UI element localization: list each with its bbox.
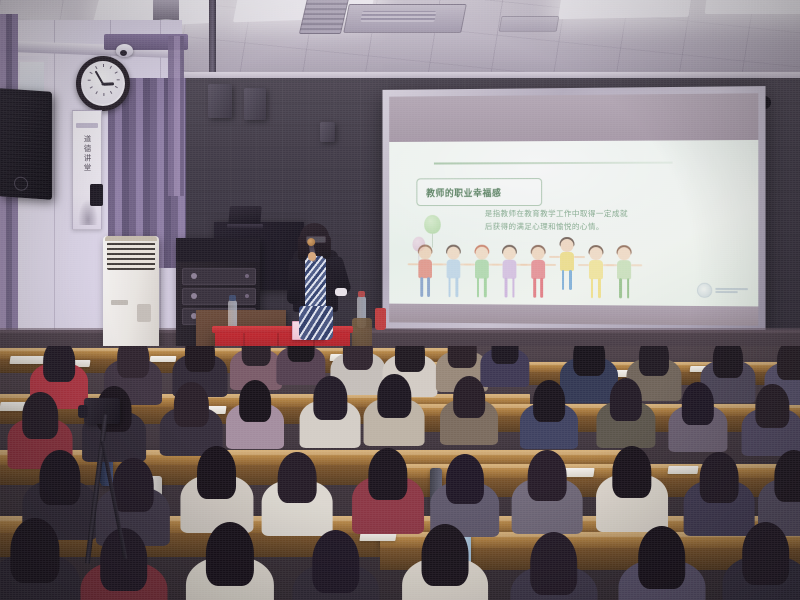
cartoon-child	[527, 247, 549, 301]
audience-member	[722, 522, 800, 600]
standing-air-conditioner	[103, 236, 159, 354]
audience-hair	[10, 518, 59, 583]
child-leg	[512, 278, 515, 298]
audience-hair	[378, 374, 411, 418]
ac-brand-label	[111, 300, 128, 305]
audience-hair	[528, 450, 567, 501]
clock-tick	[117, 79, 120, 80]
audience-hair	[174, 382, 208, 427]
child-head	[560, 239, 573, 252]
cartoon-child	[442, 247, 464, 301]
child-shirt	[418, 259, 432, 278]
audience-hair	[368, 448, 407, 500]
audience-hair	[638, 346, 668, 376]
child-leg	[505, 278, 508, 298]
audience-hair	[117, 346, 149, 378]
audience-member	[510, 532, 597, 600]
presenter	[286, 226, 348, 338]
slide-title-box: 教师的职业幸福感	[416, 178, 542, 206]
rack-unit	[182, 288, 256, 305]
audience-hair	[530, 532, 578, 595]
rack-led	[245, 294, 249, 298]
child-arm	[545, 264, 556, 266]
audience-member	[596, 446, 668, 538]
child-arm	[574, 256, 585, 258]
projection-screen: 教师的职业幸福感 是指教师在教育教学工作中取得一定成就 后获得的满足心理和愉悦的…	[389, 93, 758, 326]
audience-hair	[39, 450, 80, 505]
cartoon-child	[556, 239, 578, 301]
audience-hair	[312, 530, 360, 593]
slide-body-line-2: 后获得的满足心理和愉悦的心情。	[485, 220, 681, 233]
ac-top	[105, 236, 157, 241]
laptop-screen	[228, 206, 262, 225]
audience-hair	[491, 346, 518, 364]
rack-top-blank	[176, 238, 260, 262]
child-arm	[606, 264, 617, 266]
child-shirt	[588, 260, 602, 279]
audience-member	[292, 530, 379, 600]
ac-control-panel	[137, 304, 151, 322]
child-leg	[590, 278, 593, 298]
presenter-cuff	[335, 288, 347, 296]
audience-hair	[573, 346, 605, 376]
cartoon-child	[471, 247, 493, 301]
child-shirt	[560, 252, 574, 271]
cartoon-child	[613, 247, 635, 301]
presenter-hand	[308, 252, 316, 261]
presentation-slide: 教师的职业幸福感 是指教师在教育教学工作中取得一定成就 后获得的满足心理和愉悦的…	[389, 140, 758, 307]
screen-bottom-band	[389, 304, 758, 326]
audience-hair	[314, 376, 347, 420]
presenter-laptop	[227, 206, 263, 230]
small-speaker	[90, 184, 103, 206]
slide-body-line-1: 是指教师在教育教学工作中取得一定成就	[485, 207, 681, 220]
audience-hair	[278, 452, 317, 503]
audience-hair	[533, 380, 565, 422]
logo-mark-icon	[697, 283, 712, 298]
child-head	[475, 247, 488, 260]
audience-hair	[184, 346, 214, 372]
cartoon-child	[414, 247, 435, 300]
child-shirt	[475, 260, 489, 279]
child-leg	[456, 277, 459, 297]
child-leg	[619, 278, 622, 298]
ceiling-conduit	[209, 0, 216, 82]
wall-speaker	[320, 122, 335, 142]
child-arm	[436, 263, 447, 265]
banner-header-strip	[76, 123, 98, 128]
child-leg	[598, 278, 601, 298]
audience-hair	[206, 522, 254, 586]
clock-tick	[103, 93, 104, 96]
audience-hair	[453, 376, 485, 418]
child-head	[589, 247, 602, 260]
audience-member	[0, 518, 80, 600]
child-arm	[464, 264, 475, 266]
audience-member	[226, 380, 284, 454]
audience-hair	[446, 454, 484, 504]
presenter-skirt	[299, 306, 333, 340]
child-leg	[484, 278, 487, 298]
security-camera-icon	[116, 44, 133, 57]
child-head	[447, 247, 460, 260]
child-leg	[533, 278, 536, 298]
rack-unit	[182, 268, 256, 285]
clock-hour-hand	[103, 82, 114, 85]
red-cup	[375, 308, 386, 330]
child-shirt	[446, 259, 460, 278]
balloon-icon	[424, 215, 441, 234]
bottle-cap	[358, 291, 365, 297]
audience-hair	[342, 346, 372, 370]
wall-speaker	[244, 88, 266, 120]
audience-member	[512, 450, 583, 540]
child-leg	[569, 270, 572, 290]
clock-tick	[88, 79, 91, 80]
child-leg	[427, 277, 430, 297]
audience-hair	[239, 380, 271, 422]
wall-speaker	[208, 84, 232, 118]
child-shirt	[617, 260, 631, 279]
audience-hair	[609, 378, 641, 421]
rack-knob	[191, 273, 197, 279]
audience-hair	[700, 452, 739, 503]
ac-vent-grill	[107, 242, 155, 270]
child-leg	[627, 278, 630, 298]
child-shirt	[503, 260, 517, 279]
clock-center-pin	[102, 82, 105, 85]
audience-member	[364, 374, 425, 452]
audience-hair	[776, 346, 800, 380]
child-head	[503, 247, 516, 260]
slide-institution-logo	[697, 283, 748, 299]
lecture-hall-photo: 道德讲堂 教师的职业幸福感 是指教师在教育教学工作中取得一定成就 后获得的满足心…	[0, 0, 800, 600]
slide-title: 教师的职业幸福感	[426, 189, 501, 199]
slide-body-text: 是指教师在教育教学工作中取得一定成就 后获得的满足心理和愉悦的心情。	[485, 207, 681, 233]
audience-member	[402, 524, 488, 600]
logo-wordmark	[715, 288, 748, 294]
cartoon-child	[584, 247, 606, 301]
bottle-cap	[229, 295, 236, 301]
child-arm	[549, 256, 560, 258]
audience-hair	[742, 522, 790, 585]
audience-hair	[23, 392, 59, 439]
audience-hair	[448, 346, 477, 368]
banner-text: 道德讲堂	[82, 135, 92, 173]
audience-hair	[421, 524, 468, 586]
floor-speaker	[0, 88, 52, 200]
rack-led	[245, 274, 249, 278]
audience-hair	[242, 346, 271, 366]
child-leg	[448, 277, 451, 297]
audience-member	[440, 376, 498, 450]
speaker-logo	[14, 176, 28, 191]
child-arm	[520, 264, 531, 266]
audience-hair	[287, 346, 314, 362]
laptop-base	[227, 224, 263, 229]
clock-tick	[103, 64, 104, 67]
cartoon-children-illustration	[413, 239, 641, 302]
child-arm	[492, 264, 503, 266]
wall-clock	[76, 56, 130, 111]
wall-banner: 道德讲堂	[72, 110, 102, 230]
child-leg	[476, 277, 479, 297]
audience-hair	[43, 346, 75, 382]
child-head	[618, 247, 631, 260]
curtain-right	[168, 36, 184, 196]
audience-hair	[197, 446, 237, 499]
audience-member	[668, 382, 727, 457]
audience-member	[520, 380, 578, 454]
child-shirt	[531, 260, 545, 279]
audience-hair	[113, 458, 154, 512]
audience-hair	[612, 446, 651, 498]
projection-screen-frame: 教师的职业幸福感 是指教师在教育教学工作中取得一定成就 后获得的满足心理和愉悦的…	[382, 86, 765, 333]
audience-hair	[394, 346, 424, 372]
screen-top-band	[389, 93, 758, 142]
child-leg	[562, 270, 565, 290]
audience-member	[618, 526, 705, 600]
audience-hair	[681, 382, 713, 425]
wall-seam	[54, 20, 55, 380]
cartoon-child	[499, 247, 521, 301]
audience-hair	[638, 526, 686, 589]
child-arm	[408, 263, 419, 265]
audience-member	[300, 376, 361, 454]
audience-member	[186, 522, 274, 600]
audience-hair	[756, 384, 789, 428]
audience-hair	[712, 346, 742, 378]
audience-hair	[774, 450, 800, 502]
child-leg	[420, 277, 423, 297]
audience-member	[596, 378, 655, 453]
child-arm	[631, 264, 642, 266]
child-head	[532, 247, 545, 260]
audience-area	[0, 346, 800, 600]
child-arm	[577, 264, 588, 266]
child-head	[419, 247, 432, 260]
child-leg	[541, 278, 544, 298]
rack-knob	[191, 293, 197, 299]
